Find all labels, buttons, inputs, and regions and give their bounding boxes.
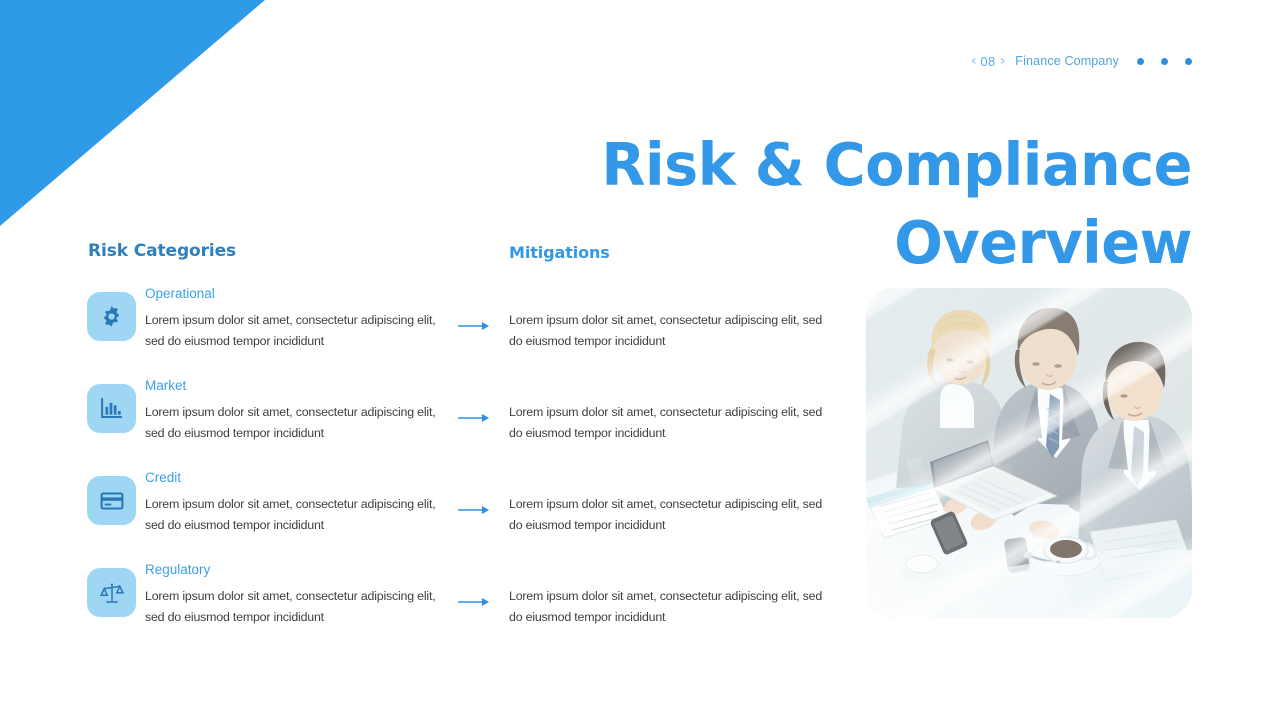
slide-canvas: ‹ 08 › Finance Company Risk & Compliance… bbox=[0, 0, 1280, 720]
mitigation-description: Lorem ipsum dolor sit amet, consectetur … bbox=[509, 494, 829, 535]
risk-category-label: Credit bbox=[145, 470, 181, 485]
header-dot bbox=[1137, 58, 1144, 65]
mitigation-description: Lorem ipsum dolor sit amet, consectetur … bbox=[509, 586, 829, 627]
icon-tile bbox=[87, 568, 136, 617]
page-title: Risk & Compliance Overview bbox=[572, 126, 1192, 282]
slide-header: ‹ 08 › Finance Company bbox=[967, 51, 1192, 71]
risk-categories-heading: Risk Categories bbox=[88, 241, 236, 261]
arrow-right-icon bbox=[458, 411, 490, 423]
risk-row[interactable]: Market Lorem ipsum dolor sit amet, conse… bbox=[0, 376, 820, 468]
page-title-line-2: Overview bbox=[591, 204, 1192, 282]
arrow-right-icon bbox=[458, 503, 490, 515]
credit-card-icon bbox=[99, 488, 125, 514]
page-title-line-1: Risk & Compliance bbox=[591, 126, 1192, 204]
risk-row[interactable]: Operational Lorem ipsum dolor sit amet, … bbox=[0, 284, 820, 376]
risk-category-label: Market bbox=[145, 378, 186, 393]
arrow-right-icon bbox=[458, 319, 490, 331]
balance-scales-icon bbox=[99, 580, 125, 606]
risk-category-label: Operational bbox=[145, 286, 215, 301]
header-dot bbox=[1161, 58, 1168, 65]
company-name: Finance Company bbox=[1015, 54, 1119, 68]
icon-tile bbox=[87, 384, 136, 433]
risk-rows-list: Operational Lorem ipsum dolor sit amet, … bbox=[0, 284, 820, 652]
mitigation-description: Lorem ipsum dolor sit amet, consectetur … bbox=[509, 402, 829, 443]
risk-row[interactable]: Credit Lorem ipsum dolor sit amet, conse… bbox=[0, 468, 820, 560]
arrow-right-icon bbox=[458, 595, 490, 607]
bar-chart-icon bbox=[99, 396, 124, 421]
header-dots bbox=[1137, 58, 1192, 65]
chevron-left-icon: ‹ bbox=[971, 54, 977, 68]
header-dot bbox=[1185, 58, 1192, 65]
risk-category-description: Lorem ipsum dolor sit amet, consectetur … bbox=[145, 310, 455, 351]
icon-tile bbox=[87, 292, 136, 341]
risk-category-label: Regulatory bbox=[145, 562, 210, 577]
mitigations-heading: Mitigations bbox=[509, 243, 610, 262]
risk-category-description: Lorem ipsum dolor sit amet, consectetur … bbox=[145, 586, 455, 627]
risk-category-description: Lorem ipsum dolor sit amet, consectetur … bbox=[145, 402, 455, 443]
risk-category-description: Lorem ipsum dolor sit amet, consectetur … bbox=[145, 494, 455, 535]
chevron-right-icon: › bbox=[1000, 54, 1006, 68]
mitigation-description: Lorem ipsum dolor sit amet, consectetur … bbox=[509, 310, 829, 351]
corner-triangle-decoration bbox=[0, 0, 265, 226]
business-team-meeting-photo bbox=[866, 288, 1192, 618]
page-number: 08 bbox=[980, 54, 995, 69]
gear-icon bbox=[99, 304, 124, 329]
risk-row[interactable]: Regulatory Lorem ipsum dolor sit amet, c… bbox=[0, 560, 820, 652]
icon-tile bbox=[87, 476, 136, 525]
